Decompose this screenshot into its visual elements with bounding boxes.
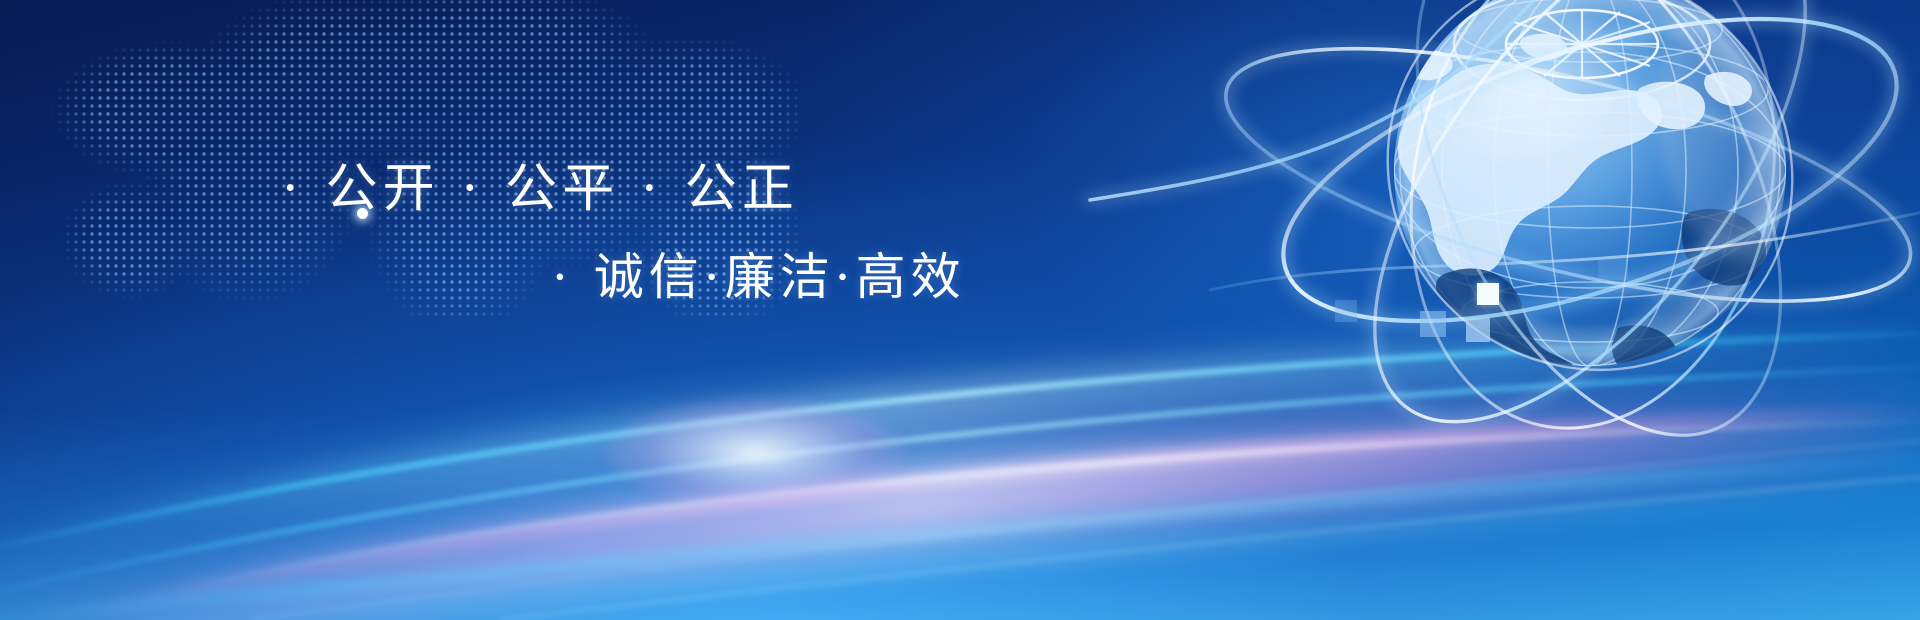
slogan-line-1: · 公开 · 公平 · 公正 [282,146,799,221]
promo-banner: · 公开 · 公平 · 公正 · 诚信·廉洁·高效 [0,0,1920,620]
pixel-square-faint [1335,300,1357,322]
pixel-square-white [1477,283,1499,305]
network-globe [1150,0,1920,430]
bottom-haze [0,410,1920,620]
pixel-square-mid [1420,311,1446,337]
pixel-square-faint-wide [1598,258,1628,280]
slogan-line-2: · 诚信·廉洁·高效 [552,237,966,309]
pixel-square-light [1466,318,1490,342]
